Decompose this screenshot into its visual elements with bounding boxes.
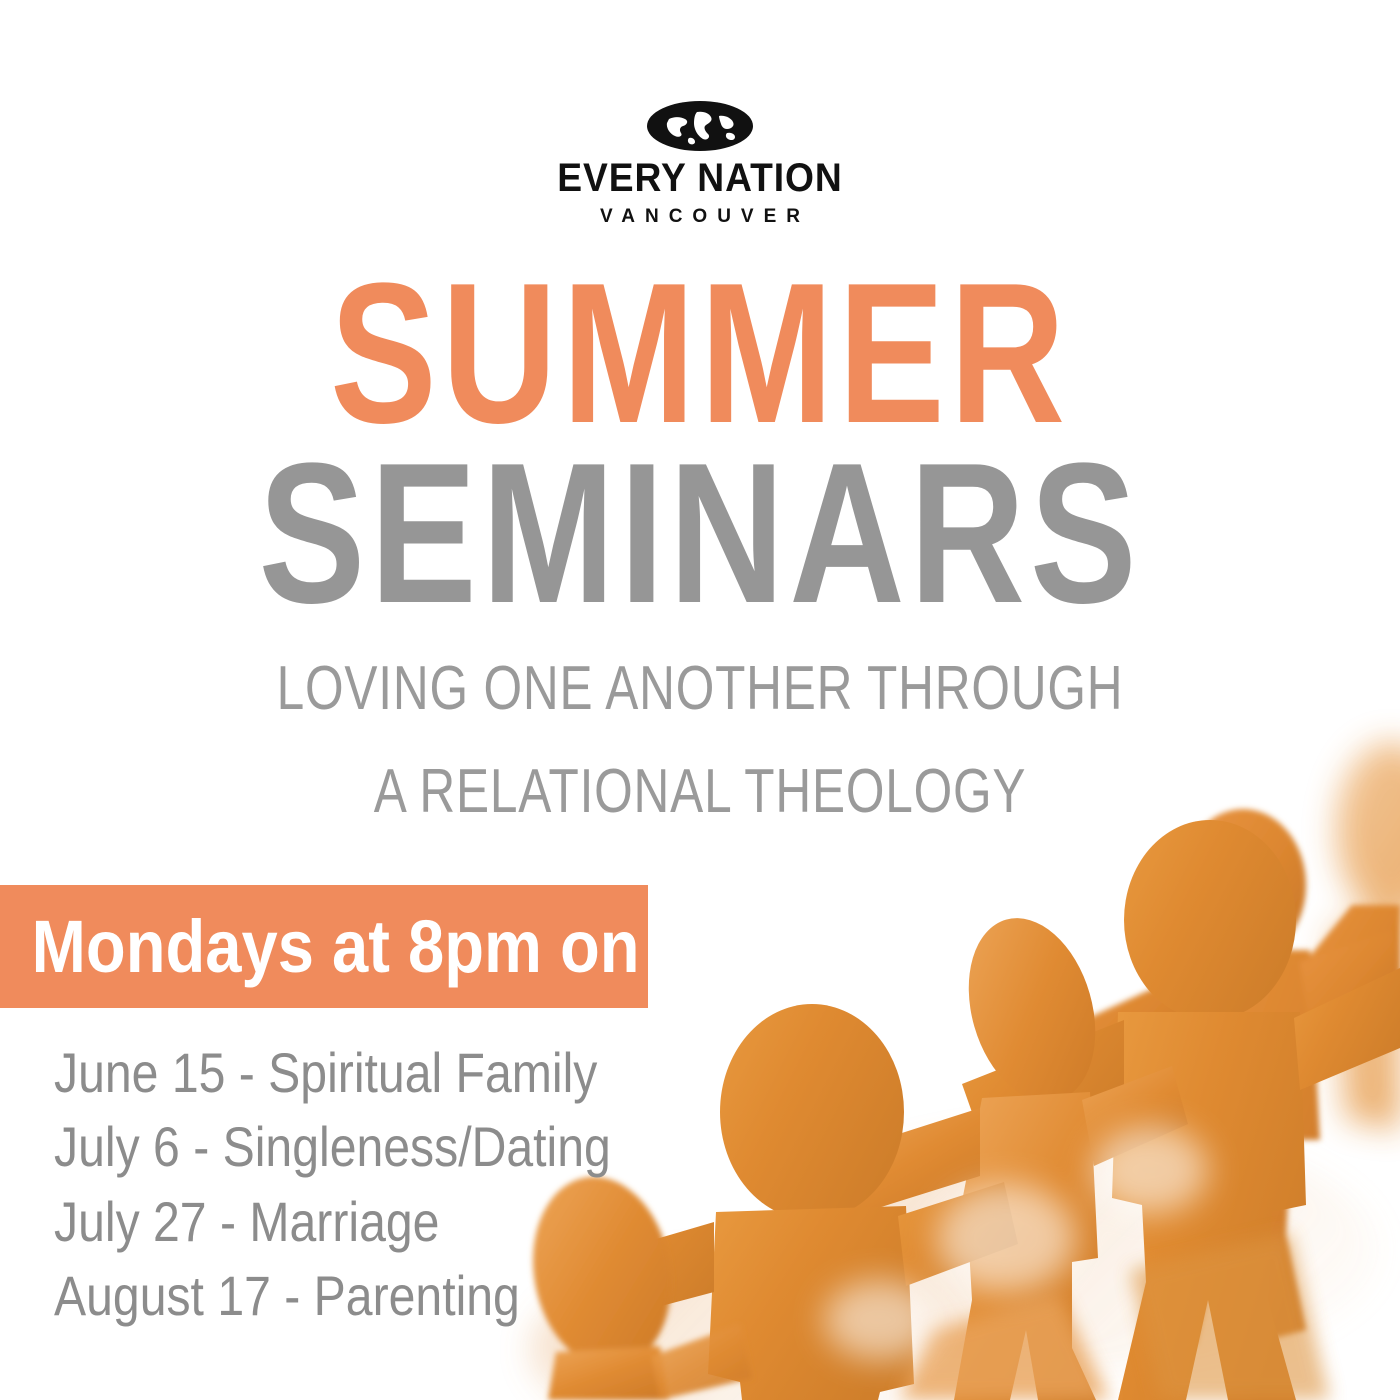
- seminar-schedule-list: June 15 - Spiritual Family July 6 - Sing…: [54, 1036, 701, 1334]
- schedule-item: July 27 - Marriage: [54, 1185, 611, 1259]
- brand-logo: EVERY NATION VANCOUVER: [0, 100, 1400, 226]
- headline-block: SUMMER SEMINARS LOVING ONE ANOTHER THROU…: [0, 268, 1400, 827]
- logo-wordmark: EVERY NATION: [49, 158, 1351, 198]
- title-seminars: SEMINARS: [140, 448, 1260, 620]
- logo-city-label: VANCOUVER: [0, 207, 1400, 226]
- tagline-line-1: LOVING ONE ANOTHER THROUGH: [140, 654, 1260, 723]
- schedule-item: August 17 - Parenting: [54, 1259, 611, 1333]
- poster-canvas: EVERY NATION VANCOUVER SUMMER SEMINARS L…: [0, 0, 1400, 1400]
- meeting-time-text: Mondays at 8pm on Zoom: [0, 910, 835, 984]
- meeting-time-banner: Mondays at 8pm on Zoom: [0, 885, 648, 1008]
- tagline-line-2: A RELATIONAL THEOLOGY: [140, 757, 1260, 826]
- schedule-item: July 6 - Singleness/Dating: [54, 1110, 611, 1184]
- globe-icon: [645, 100, 755, 152]
- title-summer: SUMMER: [140, 268, 1260, 440]
- schedule-item: June 15 - Spiritual Family: [54, 1036, 611, 1110]
